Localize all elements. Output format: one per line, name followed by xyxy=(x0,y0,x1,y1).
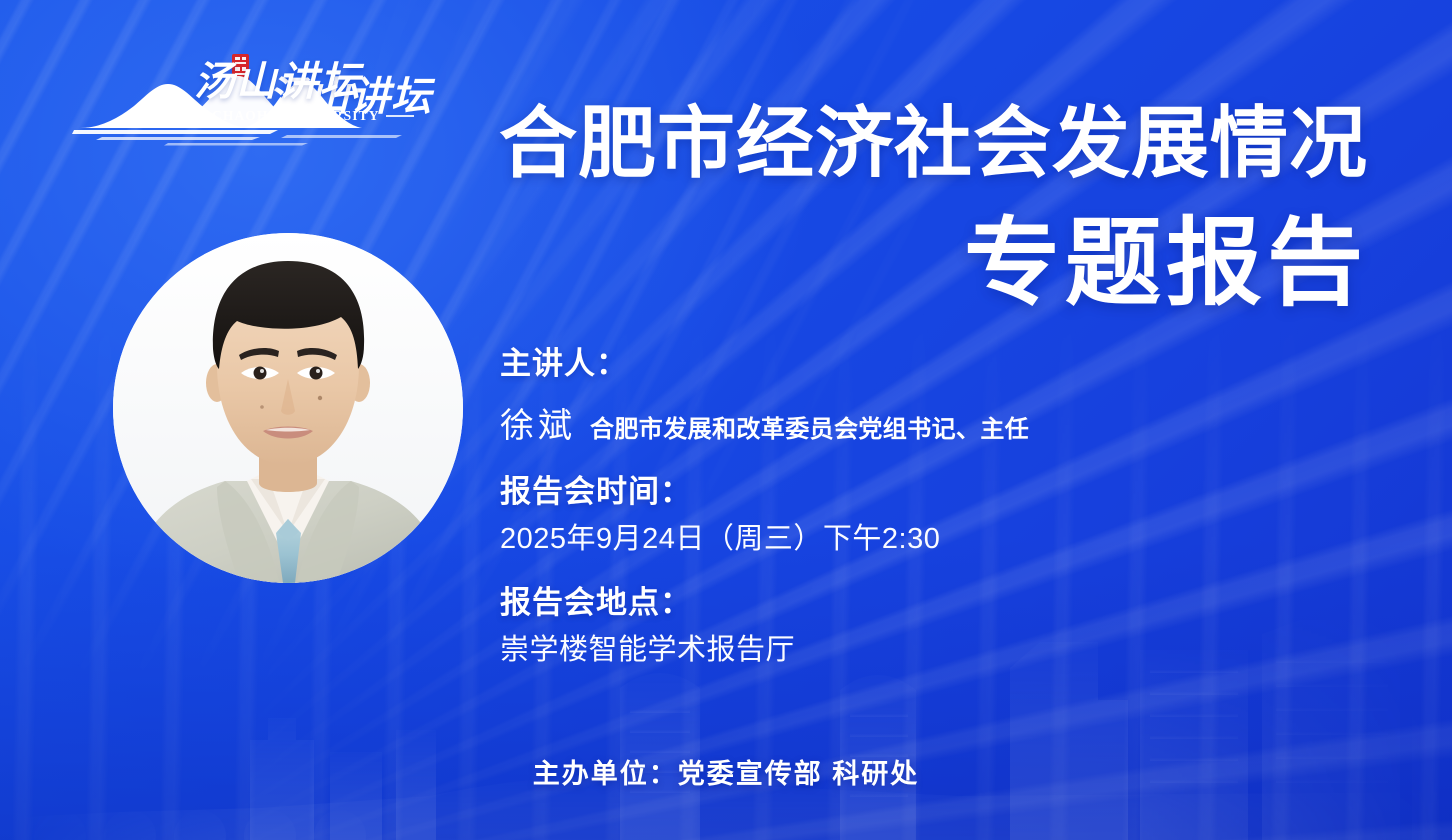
speaker-portrait-illustration xyxy=(113,233,463,583)
time-value: 2025年9月24日（周三）下午2:30 xyxy=(500,521,1380,559)
venue-value: 崇学楼智能学术报告厅 xyxy=(500,632,1380,670)
venue-label: 报告会地点： xyxy=(500,584,1380,623)
water-lines-icon xyxy=(72,130,402,146)
time-block: 报告会时间： 2025年9月24日（周三）下午2:30 xyxy=(500,473,1380,558)
speaker-name: 徐斌 xyxy=(500,398,576,447)
event-details: 主讲人： 徐斌 合肥市发展和改革委员会党组书记、主任 报告会时间： 2025年9… xyxy=(500,345,1380,670)
headline-line-2: 专题报告 xyxy=(428,216,1368,312)
logo-rule-left xyxy=(200,115,206,117)
poster-headline: 合肥市经济社会发展情况 专题报告 xyxy=(428,104,1368,312)
venue-block: 报告会地点： 崇学楼智能学术报告厅 xyxy=(500,584,1380,669)
time-label: 报告会时间： xyxy=(500,473,1380,512)
logo-rule-right xyxy=(386,115,414,117)
logo-brand-en: CHAOHU UNIVERSITY xyxy=(212,108,380,124)
speaker-label: 主讲人： xyxy=(500,345,1380,384)
headline-line-1: 合肥市经济社会发展情况 xyxy=(428,104,1368,182)
logo-brand-cn-text: 汤山讲坛 xyxy=(194,62,362,102)
speaker-portrait xyxy=(113,233,463,583)
speaker-row: 徐斌 合肥市发展和改革委员会党组书记、主任 xyxy=(500,398,1380,447)
organizer-line: 主办单位：党委宣传部 科研处 xyxy=(0,752,1452,791)
chaohu-university-logo: 汤山讲坛 汤山讲坛 CHAOHU UNIVERSITY xyxy=(72,54,417,146)
speaker-title: 合肥市发展和改革委员会党组书记、主任 xyxy=(590,409,1029,444)
poster-canvas: 汤山讲坛 汤山讲坛 CHAOHU UNIVERSITY xyxy=(0,0,1452,840)
